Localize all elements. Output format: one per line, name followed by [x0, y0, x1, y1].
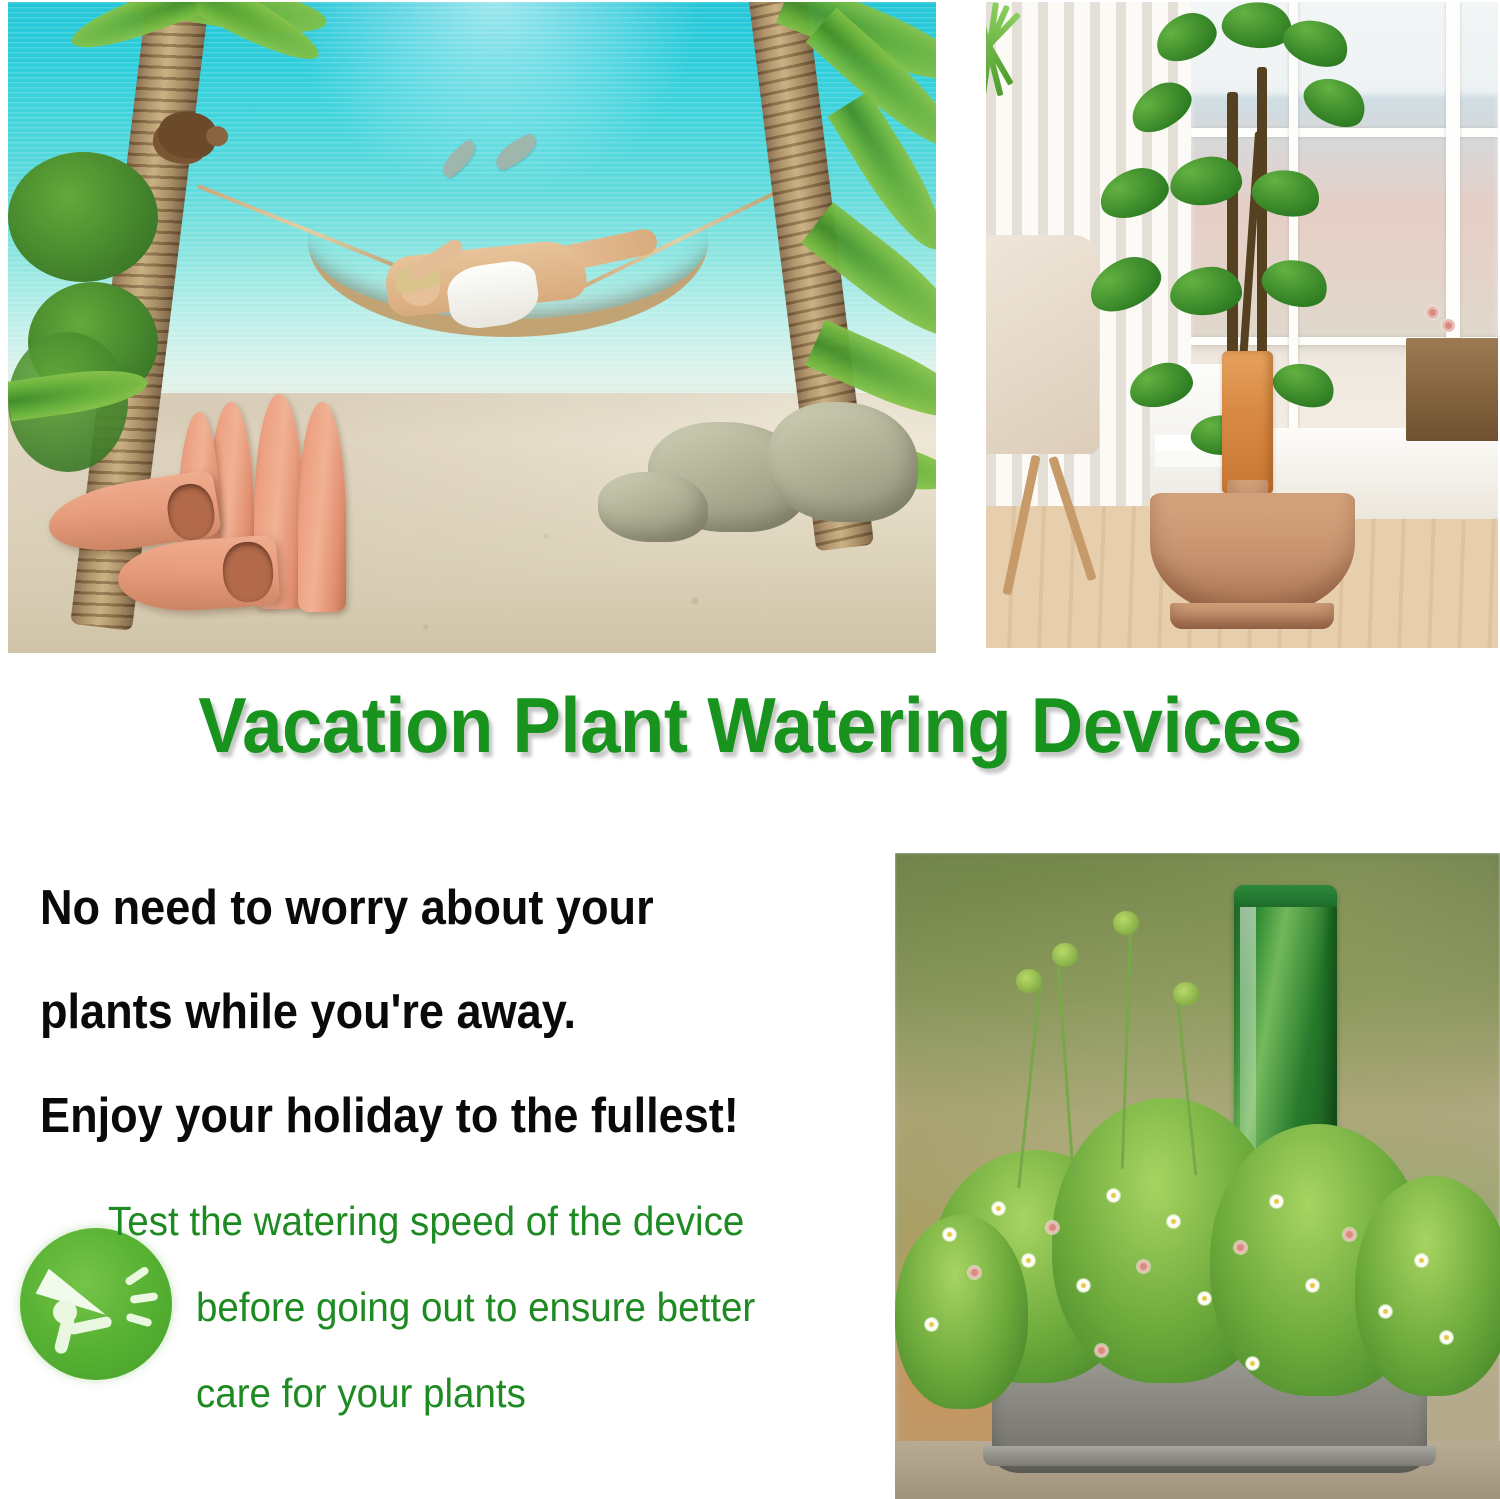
plant-foliage — [895, 1215, 1028, 1409]
plant-foliage — [1355, 1176, 1500, 1396]
red-flower — [1426, 306, 1439, 319]
daisy-flower — [1077, 1279, 1090, 1292]
daisy-flower — [1440, 1331, 1453, 1344]
chair — [986, 235, 1099, 455]
shore-shrub — [8, 152, 158, 282]
indoor-plant-photo — [986, 2, 1498, 648]
beach-rock — [598, 472, 708, 542]
flower-bud — [1113, 911, 1139, 935]
daisy-flower — [1234, 1241, 1247, 1254]
note-line: care for your plants — [196, 1350, 850, 1436]
note-line: Test the watering speed of the device — [108, 1178, 845, 1264]
pot-saucer — [1170, 603, 1334, 629]
body-copy-line: No need to worry about your — [40, 856, 794, 960]
beach-rock — [768, 402, 918, 522]
daisy-flower — [1022, 1254, 1035, 1267]
body-copy: No need to worry about your plants while… — [40, 856, 860, 1168]
beach-hammock-photo — [8, 2, 936, 653]
daisy-flower — [1343, 1228, 1356, 1241]
daisy-flower — [1198, 1292, 1211, 1305]
note-block: Test the watering speed of the device be… — [92, 1178, 892, 1436]
daisy-flower — [1167, 1215, 1180, 1228]
daisy-flower — [992, 1202, 1005, 1215]
daisy-flower — [943, 1228, 956, 1241]
garden-planter-photo — [895, 853, 1500, 1499]
red-flower — [1442, 319, 1455, 332]
wooden-crate — [1406, 338, 1498, 441]
note-line: before going out to ensure better — [196, 1264, 850, 1350]
water-glint — [286, 2, 704, 197]
amber-bottle-watering-device — [1222, 351, 1273, 493]
daisy-flower — [968, 1266, 981, 1279]
body-copy-line: plants while you're away. — [40, 960, 794, 1064]
product-infographic: Vacation Plant Watering Devices No need … — [0, 0, 1500, 1499]
daisy-flower — [1095, 1344, 1108, 1357]
body-copy-line: Enjoy your holiday to the fullest! — [40, 1064, 794, 1168]
daisy-flower — [1246, 1357, 1259, 1370]
daisy-flower — [1137, 1260, 1150, 1273]
page-title: Vacation Plant Watering Devices — [53, 680, 1448, 771]
daisy-flower — [1415, 1254, 1428, 1267]
daisy-flower — [1107, 1189, 1120, 1202]
